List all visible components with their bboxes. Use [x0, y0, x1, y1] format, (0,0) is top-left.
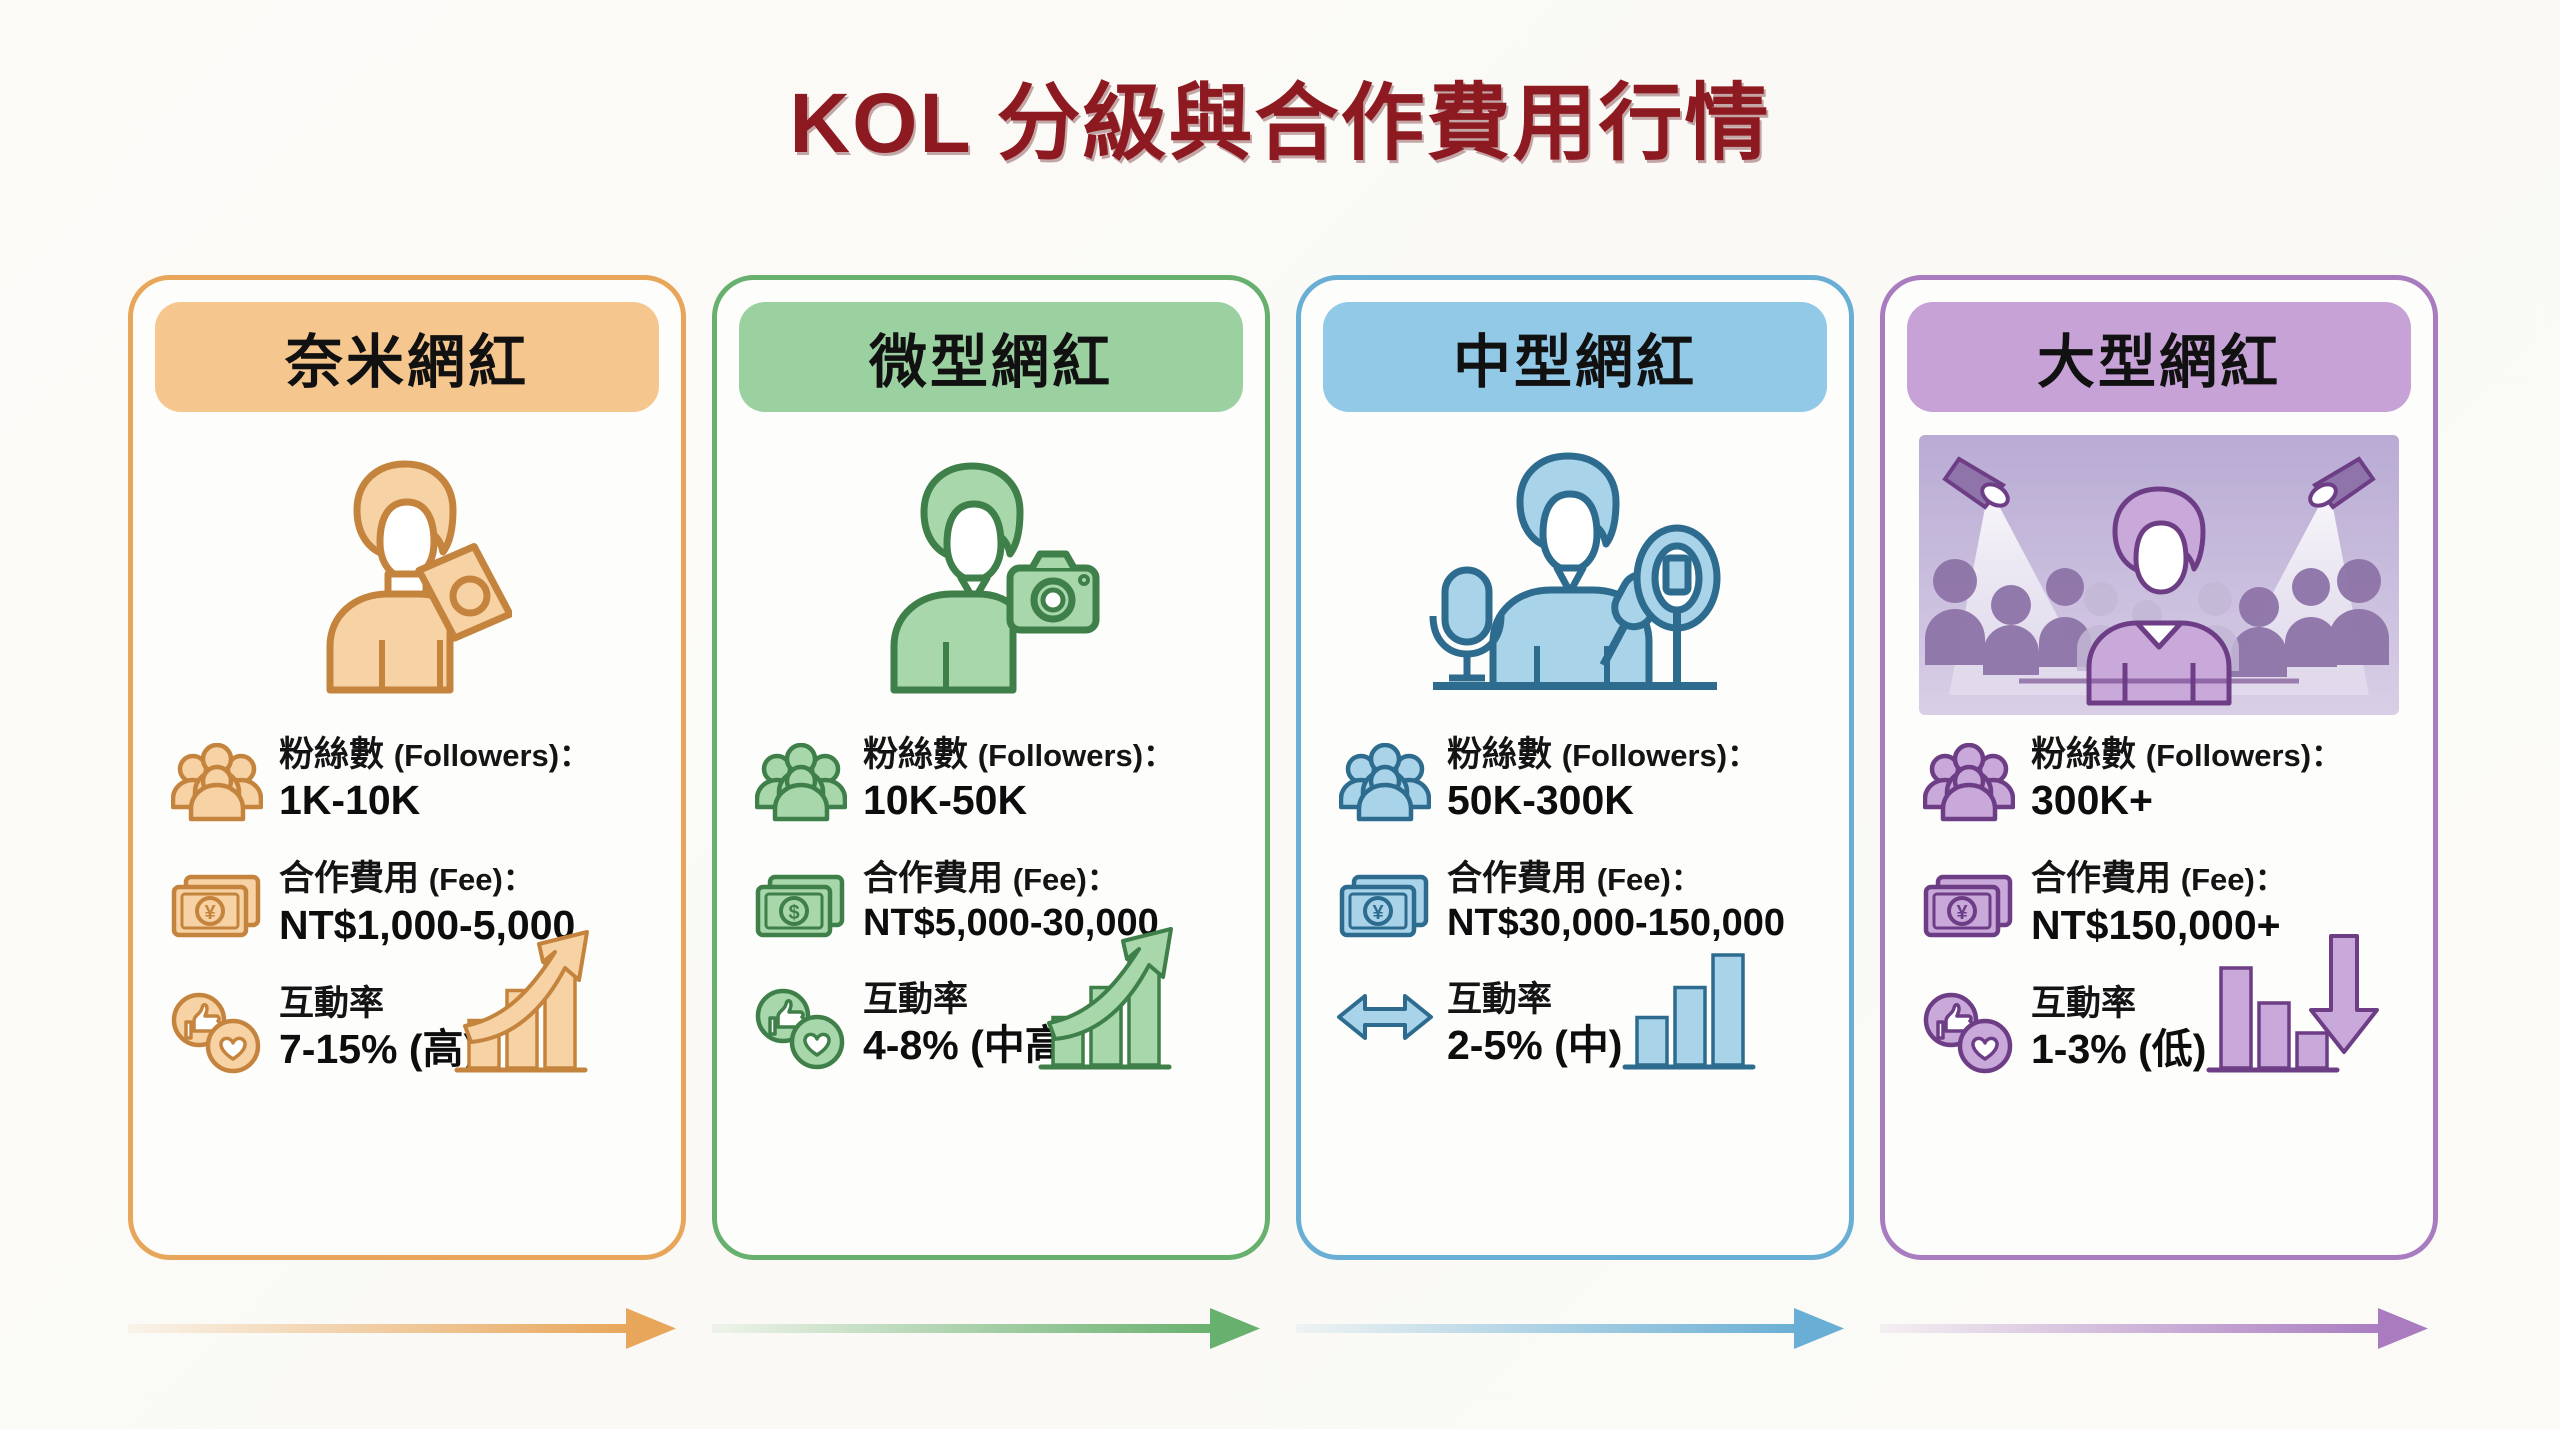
followers-label: 粉絲數 (Followers)：: [1447, 735, 1758, 774]
tier-badge: 中型網紅: [1323, 302, 1827, 412]
tier-name: 奈米網紅: [285, 315, 529, 399]
progression-arrow: [128, 1300, 686, 1360]
followers-label: 粉絲數 (Followers)：: [2031, 735, 2342, 774]
people-icon: [163, 735, 271, 823]
tier-card-grid: 奈米網紅 粉絲數 (Followers)： 1K-10K ¥ 合作費用 (Fee…: [128, 275, 2438, 1260]
tier-name: 大型網紅: [2037, 315, 2281, 399]
tier-badge: 微型網紅: [739, 302, 1243, 412]
tier-card[interactable]: 微型網紅 粉絲數 (Followers)： 10K-50K $ 合作費用 (Fe…: [712, 275, 1270, 1260]
tier-stats: 粉絲數 (Followers)： 1K-10K ¥ 合作費用 (Fee)： NT…: [163, 735, 657, 1108]
person-with-camera-icon: [717, 430, 1265, 720]
followers-label: 粉絲數 (Followers)：: [863, 735, 1174, 774]
followers-label: 粉絲數 (Followers)：: [279, 735, 590, 774]
engagement-row: 互動率 1-3% (低): [1915, 984, 2409, 1074]
trend-chart-icon: [1619, 927, 1809, 1087]
svg-text:¥: ¥: [204, 902, 216, 924]
thumbs-up-heart-icon: [747, 980, 855, 1070]
tier-stats: 粉絲數 (Followers)： 50K-300K ¥ 合作費用 (Fee)： …: [1331, 735, 1825, 1105]
trend-chart-icon: [1035, 927, 1225, 1087]
infographic-canvas: KOL 分級與合作費用行情 奈米網紅 粉絲數 (Followers)： 1K-1…: [0, 0, 2560, 1429]
engagement-value: 7-15% (高): [279, 1025, 477, 1074]
tier-stats: 粉絲數 (Followers)： 10K-50K $ 合作費用 (Fee)： N…: [747, 735, 1241, 1105]
progression-arrow: [1296, 1300, 1854, 1360]
left-right-arrow-icon: [1331, 980, 1439, 1046]
svg-text:$: $: [788, 902, 799, 924]
followers-row: 粉絲數 (Followers)： 50K-300K: [1331, 735, 1825, 825]
tier-name: 微型網紅: [869, 315, 1113, 399]
streamer-with-mic-ringlight-icon: [1301, 430, 1849, 720]
celebrity-spotlight-crowd-icon: [1885, 430, 2433, 720]
tier-card[interactable]: 奈米網紅 粉絲數 (Followers)： 1K-10K ¥ 合作費用 (Fee…: [128, 275, 686, 1260]
thumbs-up-heart-icon: [1915, 984, 2023, 1074]
people-icon: [1331, 735, 1439, 823]
engagement-label: 互動率: [279, 984, 477, 1023]
tier-badge: 奈米網紅: [155, 302, 659, 412]
progression-arrow: [712, 1300, 1270, 1360]
page-title: KOL 分級與合作費用行情: [0, 56, 2560, 177]
engagement-row: 互動率 7-15% (高): [163, 984, 657, 1074]
followers-row: 粉絲數 (Followers)： 300K+: [1915, 735, 2409, 825]
followers-row: 粉絲數 (Followers)： 1K-10K: [163, 735, 657, 825]
fee-label: 合作費用 (Fee)：: [2031, 859, 2286, 898]
people-icon: [747, 735, 855, 823]
followers-value: 50K-300K: [1447, 776, 1758, 825]
tier-stats: 粉絲數 (Followers)： 300K+ ¥ 合作費用 (Fee)： NT$…: [1915, 735, 2409, 1108]
followers-value: 300K+: [2031, 776, 2342, 825]
engagement-label: 互動率: [2031, 984, 2206, 1023]
svg-text:¥: ¥: [1372, 902, 1384, 924]
person-with-phone-icon: [133, 430, 681, 720]
trend-chart-icon: [2203, 930, 2393, 1090]
followers-value: 1K-10K: [279, 776, 590, 825]
engagement-value: 1-3% (低): [2031, 1025, 2206, 1074]
money-icon: ¥: [1915, 859, 2023, 941]
trend-chart-icon: [451, 930, 641, 1090]
fee-label: 合作費用 (Fee)：: [1447, 859, 1785, 898]
money-icon: ¥: [1331, 859, 1439, 941]
fee-label: 合作費用 (Fee)：: [279, 859, 575, 898]
followers-value: 10K-50K: [863, 776, 1174, 825]
tier-name: 中型網紅: [1453, 315, 1697, 399]
engagement-label: 互動率: [1447, 980, 1622, 1019]
engagement-row: 互動率 4-8% (中高): [747, 980, 1241, 1070]
fee-label: 合作費用 (Fee)：: [863, 859, 1159, 898]
engagement-value: 2-5% (中): [1447, 1021, 1622, 1070]
tier-badge: 大型網紅: [1907, 302, 2411, 412]
svg-text:¥: ¥: [1956, 902, 1968, 924]
progression-arrow: [1880, 1300, 2438, 1360]
progression-arrow-row: [128, 1300, 2438, 1360]
people-icon: [1915, 735, 2023, 823]
thumbs-up-heart-icon: [163, 984, 271, 1074]
money-icon: ¥: [163, 859, 271, 941]
tier-card[interactable]: 中型網紅 粉絲數 (Followers)： 50K-300K ¥ 合作費用 (F…: [1296, 275, 1854, 1260]
engagement-row: 互動率 2-5% (中): [1331, 980, 1825, 1070]
money-icon: $: [747, 859, 855, 941]
tier-card[interactable]: 大型網紅 粉絲數 (Followers)： 300K+ ¥ 合作費用 (Fee)…: [1880, 275, 2438, 1260]
followers-row: 粉絲數 (Followers)： 10K-50K: [747, 735, 1241, 825]
